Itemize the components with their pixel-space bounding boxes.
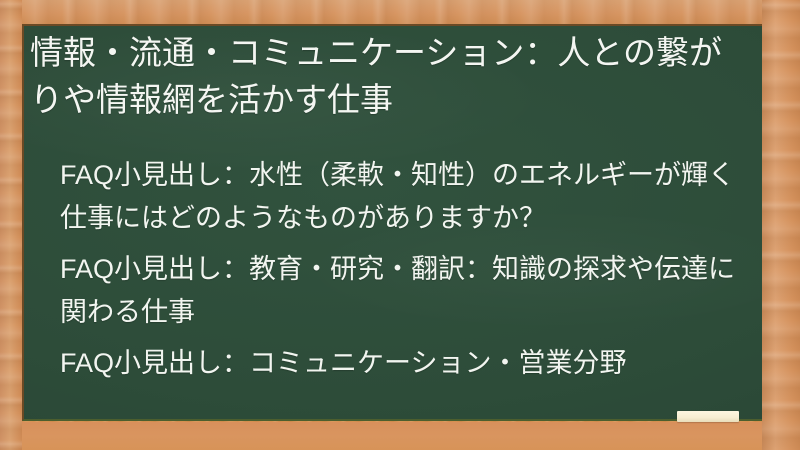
page-title: 情報・流通・コミュニケーション：人との繋がりや情報網を活かす仕事 <box>30 29 730 123</box>
faq-item: FAQ小見出し：コミュニケーション・営業分野 <box>60 342 750 385</box>
frame-rail-top <box>0 0 800 24</box>
faq-item: FAQ小見出し：教育・研究・翻訳：知識の探求や伝達に関わる仕事 <box>60 248 750 334</box>
frame-rail-right <box>762 0 800 450</box>
blackboard-frame: 情報・流通・コミュニケーション：人との繋がりや情報網を活かす仕事 FAQ小見出し… <box>0 0 800 450</box>
faq-list: FAQ小見出し：水性（柔軟・知性）のエネルギーが輝く仕事にはどのようなものがあり… <box>60 154 750 393</box>
frame-rail-left <box>0 0 22 450</box>
chalk-stick-icon <box>677 411 739 422</box>
board-content: 情報・流通・コミュニケーション：人との繋がりや情報網を活かす仕事 FAQ小見出し… <box>24 26 762 421</box>
frame-rail-bottom <box>0 422 800 450</box>
chalkboard-surface: 情報・流通・コミュニケーション：人との繋がりや情報網を活かす仕事 FAQ小見出し… <box>22 24 762 421</box>
faq-item: FAQ小見出し：水性（柔軟・知性）のエネルギーが輝く仕事にはどのようなものがあり… <box>60 154 750 240</box>
